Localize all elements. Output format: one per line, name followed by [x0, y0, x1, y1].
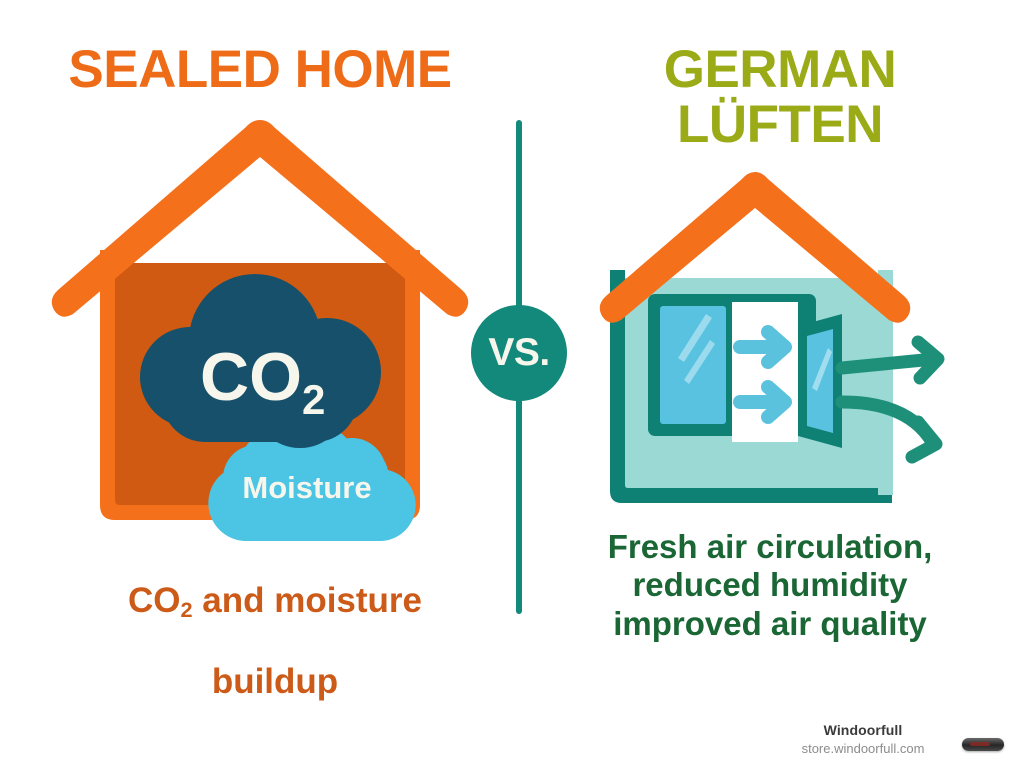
left-caption-line2: buildup: [212, 662, 338, 701]
infographic-canvas: SEALED HOME GERMAN LÜFTEN Moisture: [0, 0, 1024, 770]
left-panel-caption: CO2 and moisture buildup: [60, 540, 490, 703]
left-caption-rest: and moisture: [193, 581, 422, 620]
right-panel-caption: Fresh air circulation, reduced humidity …: [550, 528, 990, 643]
sealed-home-illustration: Moisture CO2: [0, 100, 500, 540]
windoorfull-logo-icon: [962, 738, 1004, 751]
footer-brand-name: Windoorfull: [766, 722, 960, 738]
left-panel-title: SEALED HOME: [20, 42, 500, 97]
left-caption-line1: CO2 and moisture: [128, 581, 422, 620]
left-caption-co2: CO: [128, 581, 181, 620]
footer-store-url[interactable]: store.windoorfull.com: [766, 741, 960, 756]
vs-badge: VS.: [471, 305, 567, 401]
footer-watermark: Windoorfull store.windoorfull.com: [766, 722, 1006, 756]
co2-cloud-label-main: CO: [200, 339, 302, 415]
left-caption-co2-subscript: 2: [180, 596, 192, 621]
window-glass-fixed: [660, 306, 726, 424]
moisture-cloud-label: Moisture: [242, 470, 371, 505]
german-luften-illustration: [560, 150, 1000, 530]
co2-cloud-label-subscript: 2: [302, 376, 325, 423]
right-panel-title: GERMAN LÜFTEN: [560, 42, 1000, 152]
